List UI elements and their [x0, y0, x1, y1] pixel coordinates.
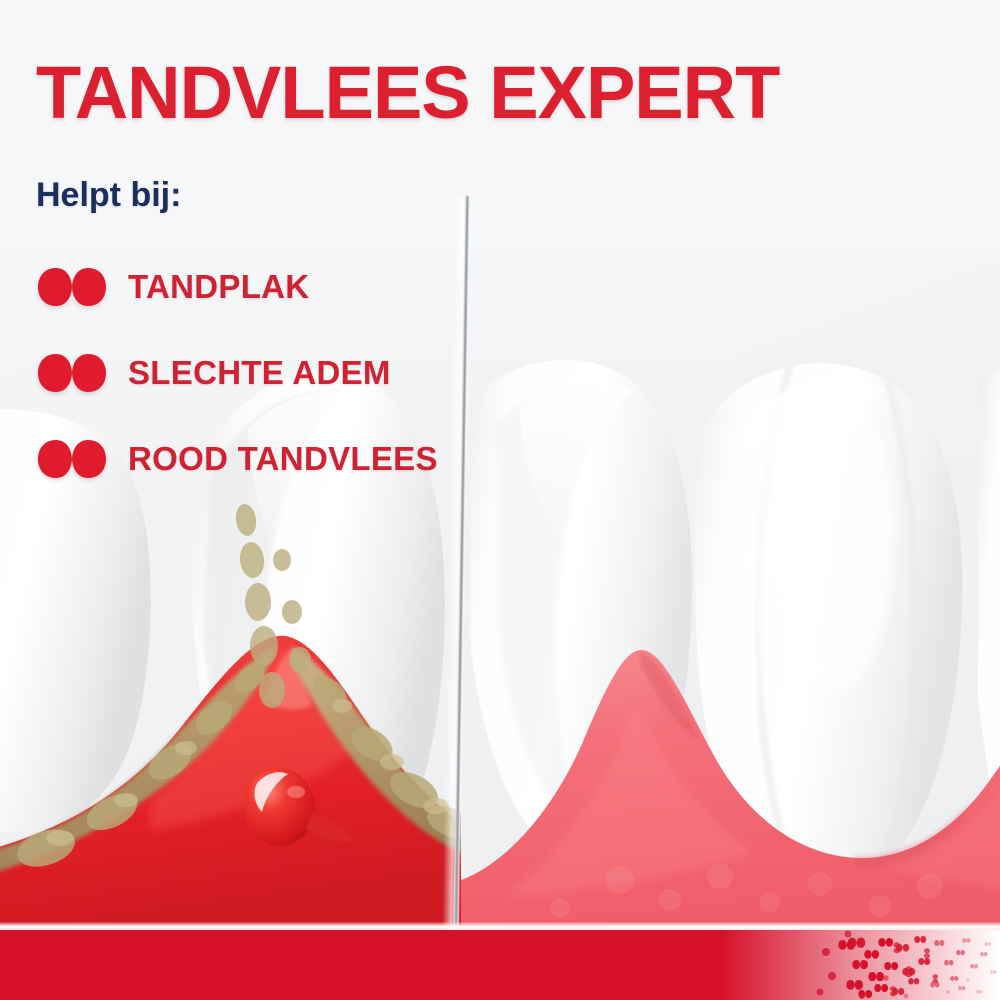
subheading: Helpt bij: [36, 178, 181, 212]
dumbbell-bullet-icon [36, 352, 108, 394]
footer-gap-line [0, 922, 1000, 930]
dumbbell-bullet-icon [36, 438, 108, 480]
dumbbell-bullet-icon [36, 266, 108, 308]
poster-canvas: TANDVLEES EXPERT Helpt bij: TANDPLAK SLE… [0, 0, 1000, 1000]
benefit-label: ROOD TANDVLEES [128, 440, 438, 478]
red-footer-bar [0, 930, 1000, 1000]
benefit-label: SLECHTE ADEM [128, 354, 391, 392]
benefit-item-slechte-adem: SLECHTE ADEM [36, 342, 438, 404]
benefit-item-tandplak: TANDPLAK [36, 256, 438, 318]
benefit-label: TANDPLAK [128, 268, 309, 306]
page-title: TANDVLEES EXPERT [36, 56, 779, 130]
benefit-item-rood-tandvlees: ROOD TANDVLEES [36, 428, 438, 490]
benefits-list: TANDPLAK SLECHTE ADEM ROOD TANDVLEES [36, 256, 438, 514]
